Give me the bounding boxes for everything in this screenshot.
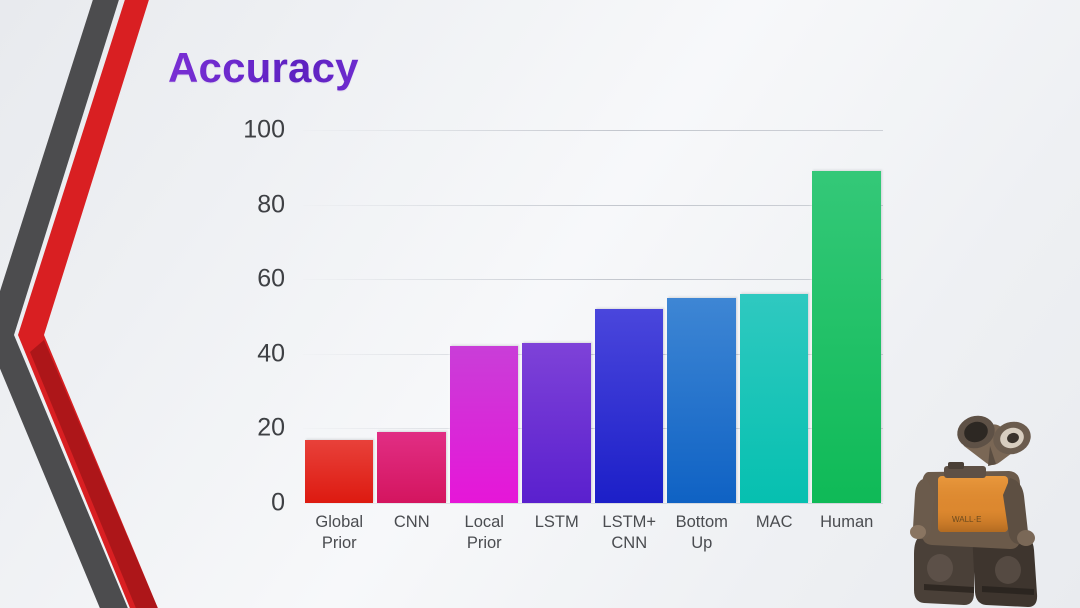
left-chevron-decoration — [0, 0, 180, 608]
x-axis-tick-label-line: CNN — [376, 512, 449, 533]
accuracy-bar-chart: 020406080100GlobalPriorCNNLocalPriorLSTM… — [210, 112, 900, 572]
x-axis-tick-label: GlobalPrior — [303, 512, 376, 554]
x-axis-tick-label: MAC — [738, 512, 811, 533]
chevron-red-shape — [18, 0, 162, 608]
presentation-slide: Accuracy 020406080100GlobalPriorCNNLocal… — [0, 0, 1080, 608]
x-axis-tick-label-line: LSTM+ — [593, 512, 666, 533]
gridline-80 — [303, 205, 883, 206]
gridline-0 — [303, 503, 883, 504]
bar-lstm-cnn[interactable] — [595, 309, 664, 503]
chevron-gray-shape — [0, 0, 132, 608]
x-axis-tick-label-line: Local — [448, 512, 521, 533]
y-axis-tick-label: 0 — [271, 489, 285, 518]
chevron-red-shadow — [30, 340, 162, 608]
x-axis-tick-label: Human — [811, 512, 884, 533]
chart-plot-area: 020406080100GlobalPriorCNNLocalPriorLSTM… — [303, 130, 883, 503]
x-axis-tick-label-line: MAC — [738, 512, 811, 533]
y-axis-tick-label: 80 — [257, 190, 285, 219]
x-axis-tick-label: BottomUp — [666, 512, 739, 554]
x-axis-tick-label-line: Up — [666, 533, 739, 554]
x-axis-tick-label-line: LSTM — [521, 512, 594, 533]
bar-bottom-up[interactable] — [667, 298, 736, 503]
gridline-100 — [303, 130, 883, 131]
bar-local-prior[interactable] — [450, 346, 519, 503]
bar-lstm[interactable] — [522, 343, 591, 503]
x-axis-tick-label-line: Human — [811, 512, 884, 533]
y-axis-tick-label: 60 — [257, 265, 285, 294]
y-axis-tick-label: 20 — [257, 414, 285, 443]
bar-mac[interactable] — [740, 294, 809, 503]
x-axis-tick-label-line: Bottom — [666, 512, 739, 533]
page-title: Accuracy — [168, 44, 359, 92]
wall-e-robot-image: WALL·E — [904, 386, 1074, 608]
x-axis-tick-label: LSTM — [521, 512, 594, 533]
svg-text:WALL·E: WALL·E — [952, 515, 982, 524]
x-axis-tick-label-line: Prior — [303, 533, 376, 554]
robot-head — [953, 411, 1035, 466]
bar-human[interactable] — [812, 171, 881, 503]
x-axis-tick-label: LSTM+CNN — [593, 512, 666, 554]
y-axis-tick-label: 100 — [243, 116, 285, 145]
bar-cnn[interactable] — [377, 432, 446, 503]
bar-global-prior[interactable] — [305, 440, 374, 503]
x-axis-tick-label: LocalPrior — [448, 512, 521, 554]
gridline-60 — [303, 279, 883, 280]
x-axis-tick-label: CNN — [376, 512, 449, 533]
y-axis-tick-label: 40 — [257, 339, 285, 368]
x-axis-tick-label-line: Global — [303, 512, 376, 533]
x-axis-tick-label-line: CNN — [593, 533, 666, 554]
x-axis-tick-label-line: Prior — [448, 533, 521, 554]
